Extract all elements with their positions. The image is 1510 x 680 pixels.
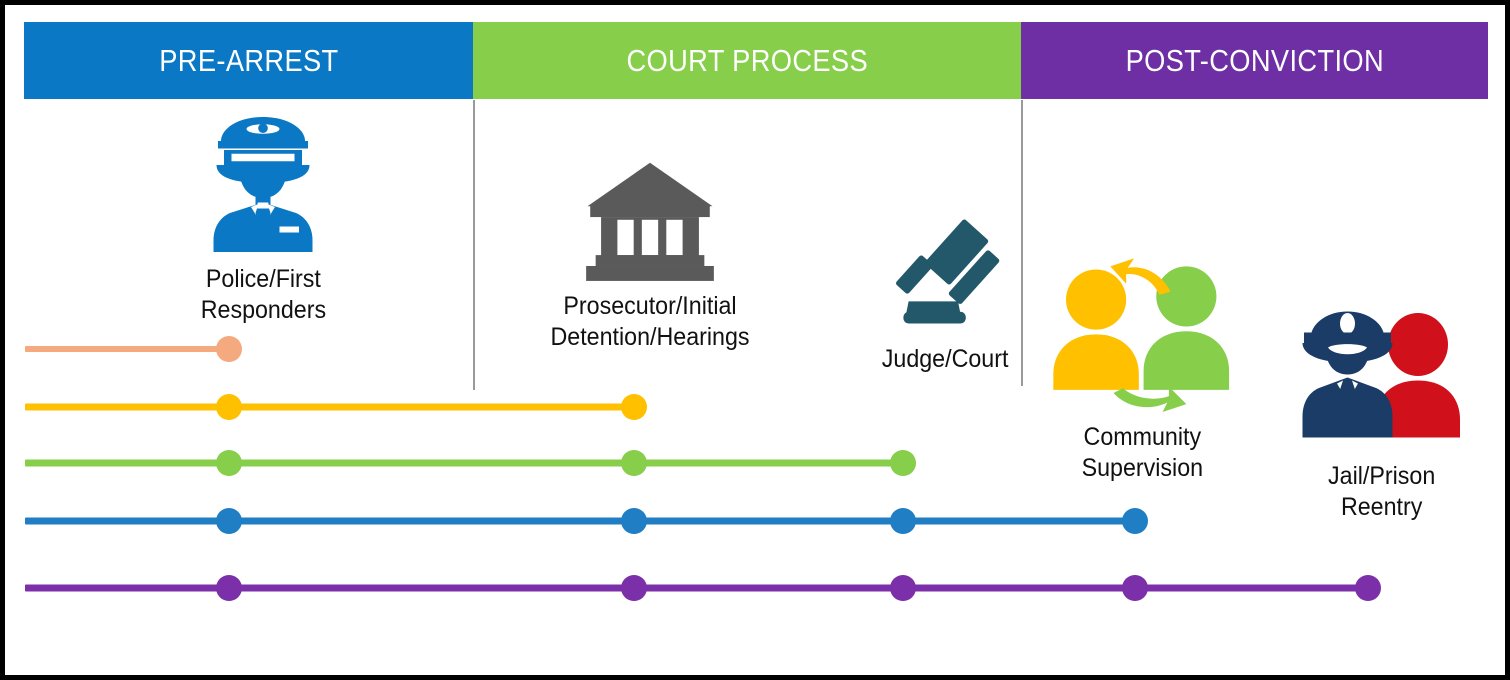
phase-header-court-process[interactable]: COURT PROCESS bbox=[473, 22, 1021, 99]
diagram-content: PRE-ARRESTCOURT PROCESSPOST-CONVICTIONPo… bbox=[0, 0, 1510, 680]
node-label-jail-prison-reentry: Jail/Prison Reentry bbox=[1328, 461, 1435, 522]
node-label-judge-court: Judge/Court bbox=[882, 344, 1009, 375]
diagram-canvas: PRE-ARRESTCOURT PROCESSPOST-CONVICTIONPo… bbox=[0, 0, 1510, 680]
node-label-community-supervision: Community Supervision bbox=[1081, 422, 1202, 483]
node-label-police-first-responders: Police/First Responders bbox=[200, 264, 325, 325]
track-milestone-dot[interactable] bbox=[890, 575, 916, 601]
track-milestone-dot[interactable] bbox=[216, 336, 242, 362]
community-supervision-icon bbox=[1047, 256, 1237, 416]
track-milestone-dot[interactable] bbox=[621, 575, 647, 601]
node-community-supervision: Community Supervision bbox=[1032, 256, 1252, 483]
phase-header-post-conviction[interactable]: POST-CONVICTION bbox=[1021, 22, 1488, 99]
track-milestone-dot[interactable] bbox=[890, 508, 916, 534]
track-milestone-dot[interactable] bbox=[890, 450, 916, 476]
phase-header-label: COURT PROCESS bbox=[626, 43, 868, 79]
node-prosecutor-initial-detention-hearings: Prosecutor/Initial Detention/Hearings bbox=[505, 160, 795, 352]
track-milestone-dot[interactable] bbox=[1355, 575, 1381, 601]
phase-header-label: PRE-ARREST bbox=[159, 43, 338, 79]
track-milestone-dot[interactable] bbox=[216, 394, 242, 420]
track-milestone-dot[interactable] bbox=[621, 450, 647, 476]
track-milestone-dot[interactable] bbox=[216, 450, 242, 476]
node-jail-prison-reentry: Jail/Prison Reentry bbox=[1272, 300, 1492, 522]
track-line bbox=[25, 518, 1135, 525]
track-milestone-dot[interactable] bbox=[621, 394, 647, 420]
node-judge-court: Judge/Court bbox=[845, 218, 1045, 375]
track-milestone-dot[interactable] bbox=[216, 575, 242, 601]
track-milestone-dot[interactable] bbox=[1122, 575, 1148, 601]
track-line bbox=[25, 460, 903, 467]
node-police-first-responders: Police/First Responders bbox=[148, 108, 378, 325]
phase-header-pre-arrest[interactable]: PRE-ARREST bbox=[24, 22, 473, 99]
jail-prison-icon bbox=[1292, 300, 1472, 455]
courthouse-icon bbox=[580, 160, 720, 285]
police-officer-icon bbox=[188, 108, 338, 258]
track-line bbox=[25, 346, 229, 352]
track-milestone-dot[interactable] bbox=[216, 508, 242, 534]
track-milestone-dot[interactable] bbox=[621, 508, 647, 534]
column-divider-1 bbox=[473, 100, 475, 390]
track-line bbox=[25, 404, 634, 411]
node-label-prosecutor-initial-detention-hearings: Prosecutor/Initial Detention/Hearings bbox=[550, 291, 749, 352]
track-milestone-dot[interactable] bbox=[1122, 508, 1148, 534]
gavel-icon bbox=[880, 218, 1010, 338]
phase-header-label: POST-CONVICTION bbox=[1125, 43, 1383, 79]
